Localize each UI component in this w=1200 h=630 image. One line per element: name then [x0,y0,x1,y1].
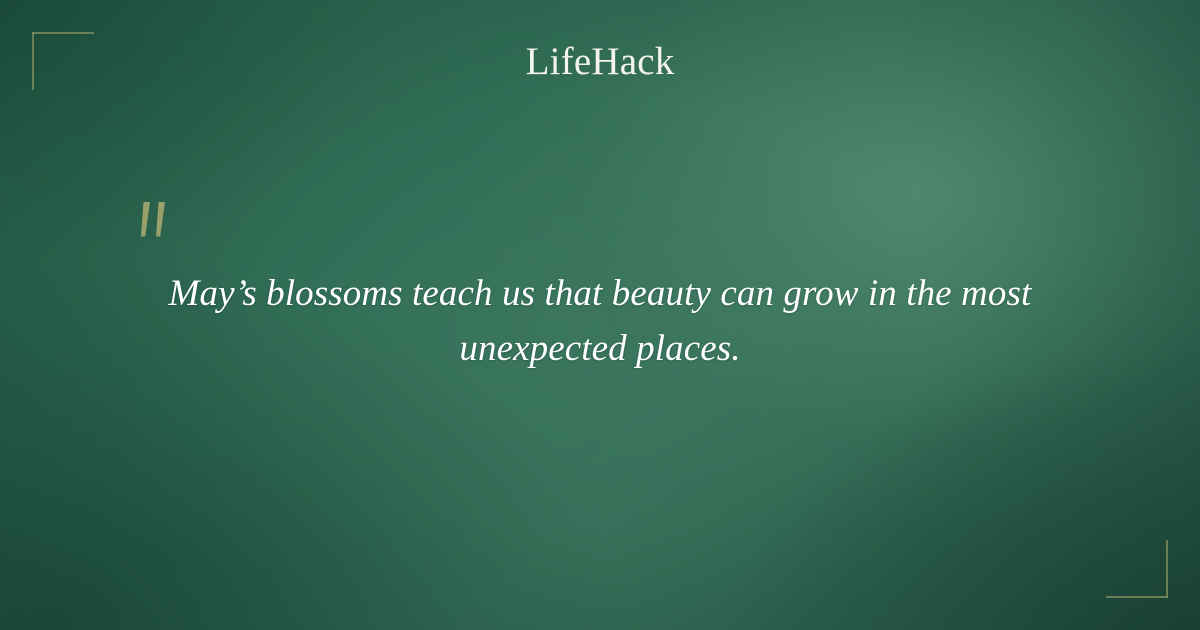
quote-block: May’s blossoms teach us that beauty can … [100,266,1100,376]
corner-bracket-bottom-right-horizontal-rule [1106,596,1168,598]
quotation-mark-icon [130,196,178,246]
quote-card: LifeHack May’s blossoms teach us that be… [0,0,1200,630]
brand-logo: LifeHack [0,40,1200,84]
quote-text: May’s blossoms teach us that beauty can … [100,266,1100,376]
corner-bracket-top-left-horizontal-rule [32,32,94,34]
corner-bracket-bottom-right-icon [1106,540,1168,598]
corner-bracket-bottom-right-vertical-rule [1166,540,1168,598]
